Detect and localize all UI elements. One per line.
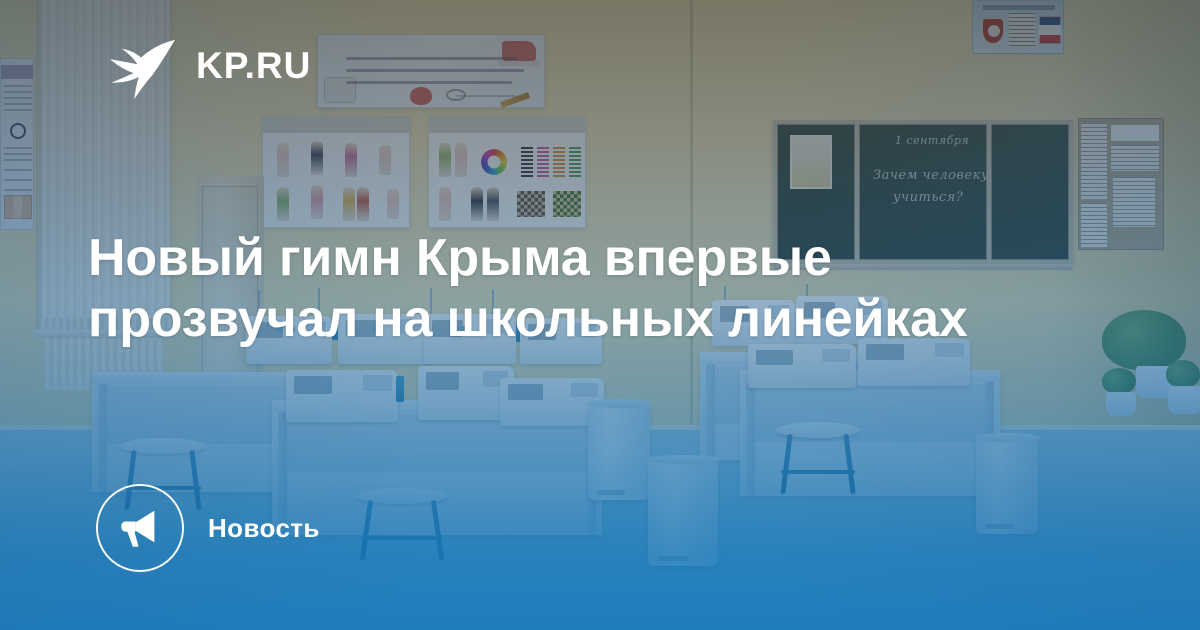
status-badge[interactable]: Новость bbox=[96, 484, 320, 572]
card-foreground: KP.RU Новый гимн Крыма впервые прозвучал… bbox=[0, 0, 1200, 630]
megaphone-icon bbox=[96, 484, 184, 572]
swallow-bird-icon bbox=[104, 28, 178, 102]
status-badge-label: Новость bbox=[208, 513, 320, 544]
brand-lockup[interactable]: KP.RU bbox=[104, 28, 311, 102]
share-card: 1 сентября Зачем человеку учиться? bbox=[0, 0, 1200, 630]
brand-name: KP.RU bbox=[196, 47, 311, 84]
page-title: Новый гимн Крыма впервые прозвучал на шк… bbox=[88, 228, 1098, 351]
